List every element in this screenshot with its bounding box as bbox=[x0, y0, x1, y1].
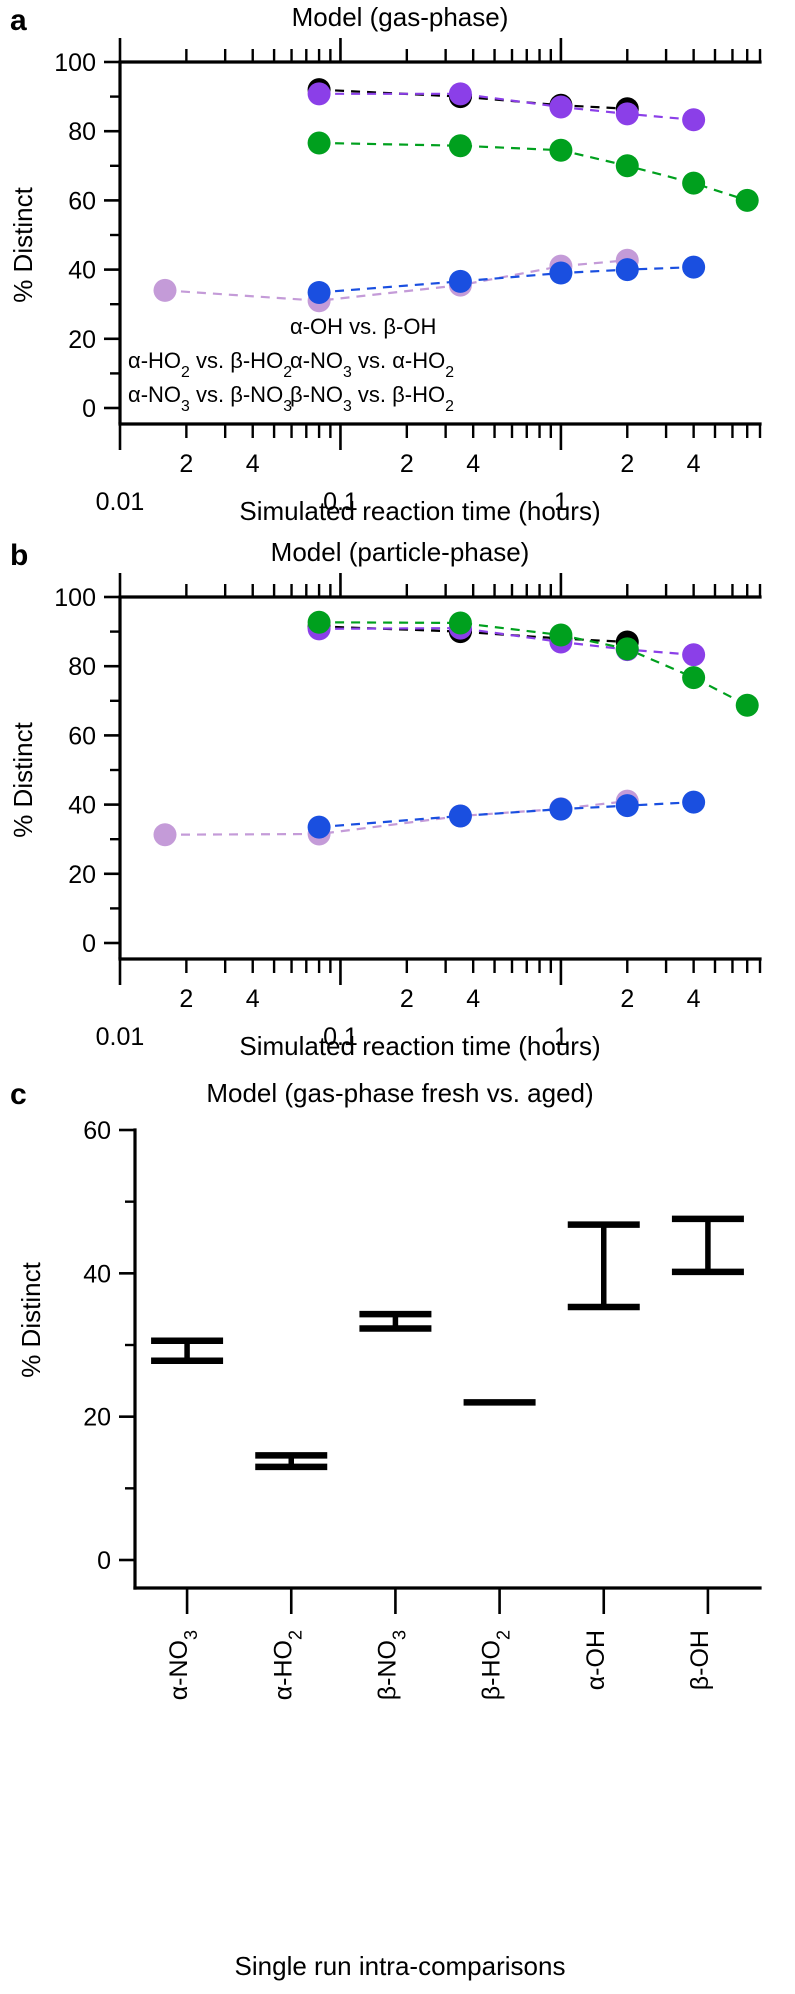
x-tick-minor-label: 4 bbox=[246, 450, 260, 478]
x-category-label: β-HO2 bbox=[478, 1630, 514, 1700]
data-point bbox=[616, 637, 639, 660]
panel-b-title: Model (particle-phase) bbox=[271, 537, 530, 567]
data-point bbox=[682, 666, 705, 689]
panel-c-ylabel: % Distinct bbox=[16, 1261, 46, 1377]
y-tick-label: 60 bbox=[68, 187, 96, 215]
series-line-0 bbox=[319, 90, 627, 109]
y-tick-label: 60 bbox=[83, 1117, 111, 1145]
y-tick-label: 0 bbox=[82, 930, 96, 958]
data-point bbox=[736, 694, 759, 717]
y-tick-label: 40 bbox=[68, 257, 96, 285]
x-tick-minor-label: 2 bbox=[400, 985, 414, 1013]
data-point bbox=[549, 798, 572, 821]
series-line-2 bbox=[319, 143, 747, 200]
data-point bbox=[549, 95, 572, 118]
legend-entry-alpha_no3_vs_alpha_ho2: α-NO3 vs. α-HO2 bbox=[290, 348, 454, 381]
x-tick-minor-label: 4 bbox=[687, 985, 701, 1013]
y-tick-label: 20 bbox=[83, 1404, 111, 1432]
x-category-label: α-OH bbox=[582, 1630, 610, 1690]
x-tick-minor-label: 4 bbox=[466, 985, 480, 1013]
data-point bbox=[154, 279, 177, 302]
data-point bbox=[549, 262, 572, 285]
figure-root: a Model (gas-phase) 0204060801002424240.… bbox=[0, 0, 795, 1994]
data-point bbox=[682, 256, 705, 279]
x-category-label: β-OH bbox=[686, 1630, 714, 1690]
panel-c-xlabel: Single run intra-comparisons bbox=[235, 1951, 566, 1981]
y-tick-label: 20 bbox=[68, 326, 96, 354]
series-line-2 bbox=[319, 622, 747, 705]
panel-b: b Model (particle-phase) 020406080100242… bbox=[0, 535, 795, 1070]
x-tick-minor-label: 2 bbox=[400, 450, 414, 478]
panel-a-ylabel: % Distinct bbox=[8, 186, 38, 302]
panel-b-plot-area: 0204060801002424240.010.11 bbox=[54, 573, 760, 1051]
data-point bbox=[549, 624, 572, 647]
data-point bbox=[736, 189, 759, 212]
y-tick-label: 100 bbox=[54, 49, 96, 77]
data-point bbox=[308, 131, 331, 154]
data-point bbox=[449, 270, 472, 293]
axis-frame bbox=[120, 597, 760, 957]
y-tick-label: 40 bbox=[68, 792, 96, 820]
x-category-label: α-HO2 bbox=[269, 1630, 305, 1700]
panel-b-svg: b Model (particle-phase) 020406080100242… bbox=[0, 535, 795, 1070]
data-point bbox=[449, 611, 472, 634]
legend-entry-beta_no3_vs_beta_ho2: β-NO3 vs. β-HO2 bbox=[290, 382, 454, 415]
legend-entry-alpha_oh_vs_beta_oh: α-OH vs. β-OH bbox=[290, 314, 436, 339]
panel-b-xlabel: Simulated reaction time (hours) bbox=[239, 1031, 600, 1061]
panel-a-plot-area: 0204060801002424240.010.11 bbox=[54, 38, 760, 516]
data-point bbox=[682, 643, 705, 666]
y-tick-label: 60 bbox=[68, 722, 96, 750]
panel-a-letter: a bbox=[10, 4, 27, 37]
data-point bbox=[616, 794, 639, 817]
y-tick-label: 80 bbox=[68, 653, 96, 681]
panel-c: c Model (gas-phase fresh vs. aged) 02040… bbox=[0, 1070, 795, 1994]
panel-a-title: Model (gas-phase) bbox=[292, 2, 509, 32]
y-tick-label: 80 bbox=[68, 118, 96, 146]
x-tick-major-label: 0.01 bbox=[96, 1023, 145, 1051]
panel-b-letter: b bbox=[10, 539, 28, 572]
x-tick-minor-label: 2 bbox=[620, 985, 634, 1013]
x-tick-minor-label: 2 bbox=[179, 450, 193, 478]
panel-c-letter: c bbox=[10, 1078, 27, 1111]
data-point bbox=[308, 82, 331, 105]
legend-entry-alpha_no3_vs_beta_no3: α-NO3 vs. β-NO3 bbox=[128, 382, 292, 415]
y-tick-label: 0 bbox=[82, 395, 96, 423]
y-tick-label: 100 bbox=[54, 584, 96, 612]
data-point bbox=[616, 102, 639, 125]
x-tick-minor-label: 4 bbox=[246, 985, 260, 1013]
panel-c-svg: c Model (gas-phase fresh vs. aged) 02040… bbox=[0, 1070, 795, 1994]
panel-a: a Model (gas-phase) 0204060801002424240.… bbox=[0, 0, 795, 535]
panel-a-svg: a Model (gas-phase) 0204060801002424240.… bbox=[0, 0, 795, 535]
panel-c-title: Model (gas-phase fresh vs. aged) bbox=[206, 1078, 593, 1108]
panel-a-xlabel: Simulated reaction time (hours) bbox=[239, 496, 600, 526]
x-tick-minor-label: 2 bbox=[179, 985, 193, 1013]
x-tick-minor-label: 2 bbox=[620, 450, 634, 478]
data-point bbox=[682, 108, 705, 131]
x-tick-major-label: 0.01 bbox=[96, 488, 145, 516]
data-point bbox=[308, 611, 331, 634]
panel-b-ylabel: % Distinct bbox=[8, 721, 38, 837]
data-point bbox=[308, 816, 331, 839]
data-point bbox=[616, 154, 639, 177]
data-point bbox=[449, 82, 472, 105]
x-category-label: α-NO3 bbox=[165, 1630, 201, 1700]
data-point bbox=[154, 823, 177, 846]
data-point bbox=[682, 791, 705, 814]
data-point bbox=[449, 134, 472, 157]
y-tick-label: 0 bbox=[97, 1547, 111, 1575]
legend-entry-alpha_ho2_vs_beta_ho2: α-HO2 vs. β-HO2 bbox=[128, 348, 292, 381]
data-point bbox=[549, 139, 572, 162]
x-tick-minor-label: 4 bbox=[687, 450, 701, 478]
data-point bbox=[682, 172, 705, 195]
y-tick-label: 40 bbox=[83, 1260, 111, 1288]
x-category-label: β-NO3 bbox=[373, 1630, 409, 1700]
y-tick-label: 20 bbox=[68, 861, 96, 889]
panel-a-legend: α-HO2 vs. β-HO2α-NO3 vs. β-NO3α-OH vs. β… bbox=[128, 314, 454, 415]
data-point bbox=[308, 281, 331, 304]
data-point bbox=[616, 258, 639, 281]
x-tick-minor-label: 4 bbox=[466, 450, 480, 478]
panel-c-plot-area: 0204060α-NO3α-HO2β-NO3β-HO2α-OHβ-OH bbox=[83, 1117, 760, 1700]
data-point bbox=[449, 805, 472, 828]
